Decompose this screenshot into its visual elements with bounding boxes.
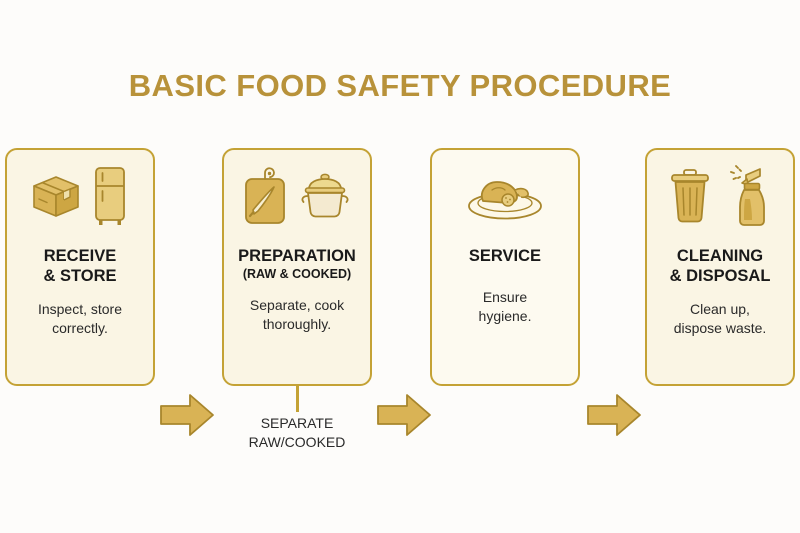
- step-description-receive-store: Inspect, store correctly.: [30, 300, 130, 338]
- step-description-service: Ensure hygiene.: [471, 288, 540, 326]
- step-description-cleaning-disposal: Clean up, dispose waste.: [666, 300, 775, 338]
- step-subheading-preparation: (RAW & COOKED): [243, 267, 351, 282]
- step-heading-line1: PREPARATION: [238, 246, 356, 266]
- step-desc-line1: Clean up,: [674, 300, 767, 319]
- arrow-service-to-cleaning: [586, 392, 642, 438]
- cardboard-box-icon: [30, 171, 82, 226]
- step-heading-preparation: PREPARATION: [234, 246, 360, 266]
- step-heading-cleaning-disposal: CLEANING & DISPOSAL: [666, 246, 775, 286]
- step-heading-line1: CLEANING: [670, 246, 771, 266]
- step-heading-line1: SERVICE: [469, 246, 541, 266]
- spray-bottle-icon: [722, 163, 774, 234]
- cooking-pot-icon: [297, 168, 353, 229]
- step-card-preparation[interactable]: PREPARATION (RAW & COOKED) Separate, coo…: [222, 148, 372, 386]
- step-desc-line1: Inspect, store: [38, 300, 122, 319]
- step-desc-line2: dispose waste.: [674, 319, 767, 338]
- step-icons-service: [432, 150, 578, 246]
- step-heading-service: SERVICE: [465, 246, 545, 266]
- step-desc-line2: thoroughly.: [250, 315, 344, 334]
- annotation-line2: RAW/COOKED: [182, 433, 412, 452]
- step-desc-line1: Separate, cook: [250, 296, 344, 315]
- refrigerator-icon: [90, 165, 130, 232]
- step-heading-line1: RECEIVE: [43, 246, 116, 266]
- annotation-label: SEPARATE RAW/COOKED: [182, 414, 412, 452]
- step-heading-line2: & DISPOSAL: [670, 266, 771, 286]
- step-description-preparation: Separate, cook thoroughly.: [242, 296, 352, 334]
- step-icons-cleaning-disposal: [647, 150, 793, 246]
- step-desc-line2: hygiene.: [479, 307, 532, 326]
- step-desc-line2: correctly.: [38, 319, 122, 338]
- trash-bin-icon: [666, 166, 714, 231]
- page-title: BASIC FOOD SAFETY PROCEDURE: [0, 68, 800, 104]
- step-card-cleaning-disposal[interactable]: CLEANING & DISPOSAL Clean up, dispose wa…: [645, 148, 795, 386]
- annotation-connector-line: [296, 386, 299, 412]
- step-icons-receive-store: [7, 150, 153, 246]
- step-desc-line1: Ensure: [479, 288, 532, 307]
- cutting-board-knife-icon: [241, 165, 289, 232]
- step-heading-receive-store: RECEIVE & STORE: [39, 246, 120, 286]
- process-flow-row: RECEIVE & STORE Inspect, store correctly…: [0, 148, 800, 386]
- annotation-line1: SEPARATE: [182, 414, 412, 433]
- step-icons-preparation: [224, 150, 370, 246]
- served-plate-icon: [459, 168, 551, 229]
- step-card-receive-store[interactable]: RECEIVE & STORE Inspect, store correctly…: [5, 148, 155, 386]
- infographic-root: BASIC FOOD SAFETY PROCEDURE: [0, 0, 800, 533]
- step-card-service[interactable]: SERVICE Ensure hygiene.: [430, 148, 580, 386]
- step-heading-line2: & STORE: [43, 266, 116, 286]
